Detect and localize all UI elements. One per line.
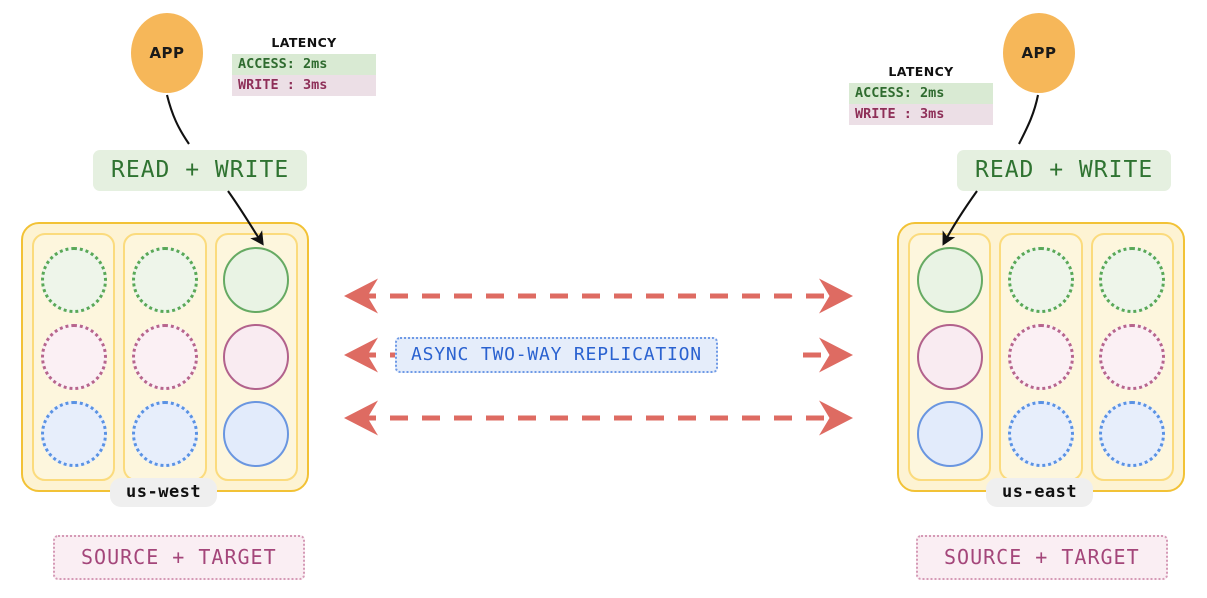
latency-table-left: LATENCY ACCESS: 2ms WRITE : 3ms: [232, 35, 376, 96]
node-green-replica: [1008, 247, 1074, 313]
connector-app-to-rw-right: [1019, 95, 1038, 144]
shard-replica-1-right: [999, 233, 1082, 481]
shard-primary-left: [215, 233, 298, 481]
latency-table-right: LATENCY ACCESS: 2ms WRITE : 3ms: [849, 64, 993, 125]
node-green-replica: [41, 247, 107, 313]
shard-replica-2-right: [1091, 233, 1174, 481]
node-green-replica: [132, 247, 198, 313]
region-badge-us-east: us-east: [986, 478, 1093, 507]
node-blue-replica: [1008, 401, 1074, 467]
region-badge-us-west: us-west: [110, 478, 217, 507]
diagram-canvas: APP LATENCY ACCESS: 2ms WRITE : 3ms READ…: [0, 0, 1207, 598]
app-label-right: APP: [1021, 44, 1056, 62]
node-blue-primary: [917, 401, 983, 467]
node-green-primary: [917, 247, 983, 313]
read-write-label-right: READ + WRITE: [957, 150, 1171, 191]
node-pink-replica: [1099, 324, 1165, 390]
latency-access-row-left: ACCESS: 2ms: [232, 54, 376, 75]
node-green-replica: [1099, 247, 1165, 313]
read-write-label-left: READ + WRITE: [93, 150, 307, 191]
node-pink-primary: [917, 324, 983, 390]
region-container-us-west: [21, 222, 309, 492]
latency-write-row-left: WRITE : 3ms: [232, 75, 376, 96]
node-blue-replica: [41, 401, 107, 467]
node-pink-replica: [41, 324, 107, 390]
shard-primary-right: [908, 233, 991, 481]
node-blue-primary: [223, 401, 289, 467]
region-container-us-east: [897, 222, 1185, 492]
replication-label: ASYNC TWO-WAY REPLICATION: [395, 337, 718, 373]
shard-replica-1-left: [32, 233, 115, 481]
node-pink-primary: [223, 324, 289, 390]
node-pink-replica: [132, 324, 198, 390]
source-target-box-right: SOURCE + TARGET: [916, 535, 1168, 580]
app-node-left: APP: [131, 13, 203, 93]
latency-title-right: LATENCY: [849, 64, 993, 79]
node-pink-replica: [1008, 324, 1074, 390]
latency-title-left: LATENCY: [232, 35, 376, 50]
node-blue-replica: [1099, 401, 1165, 467]
latency-access-row-right: ACCESS: 2ms: [849, 83, 993, 104]
source-target-box-left: SOURCE + TARGET: [53, 535, 305, 580]
connector-app-to-rw-left: [167, 95, 189, 144]
node-green-primary: [223, 247, 289, 313]
shard-replica-2-left: [123, 233, 206, 481]
app-node-right: APP: [1003, 13, 1075, 93]
latency-write-row-right: WRITE : 3ms: [849, 104, 993, 125]
app-label-left: APP: [149, 44, 184, 62]
node-blue-replica: [132, 401, 198, 467]
